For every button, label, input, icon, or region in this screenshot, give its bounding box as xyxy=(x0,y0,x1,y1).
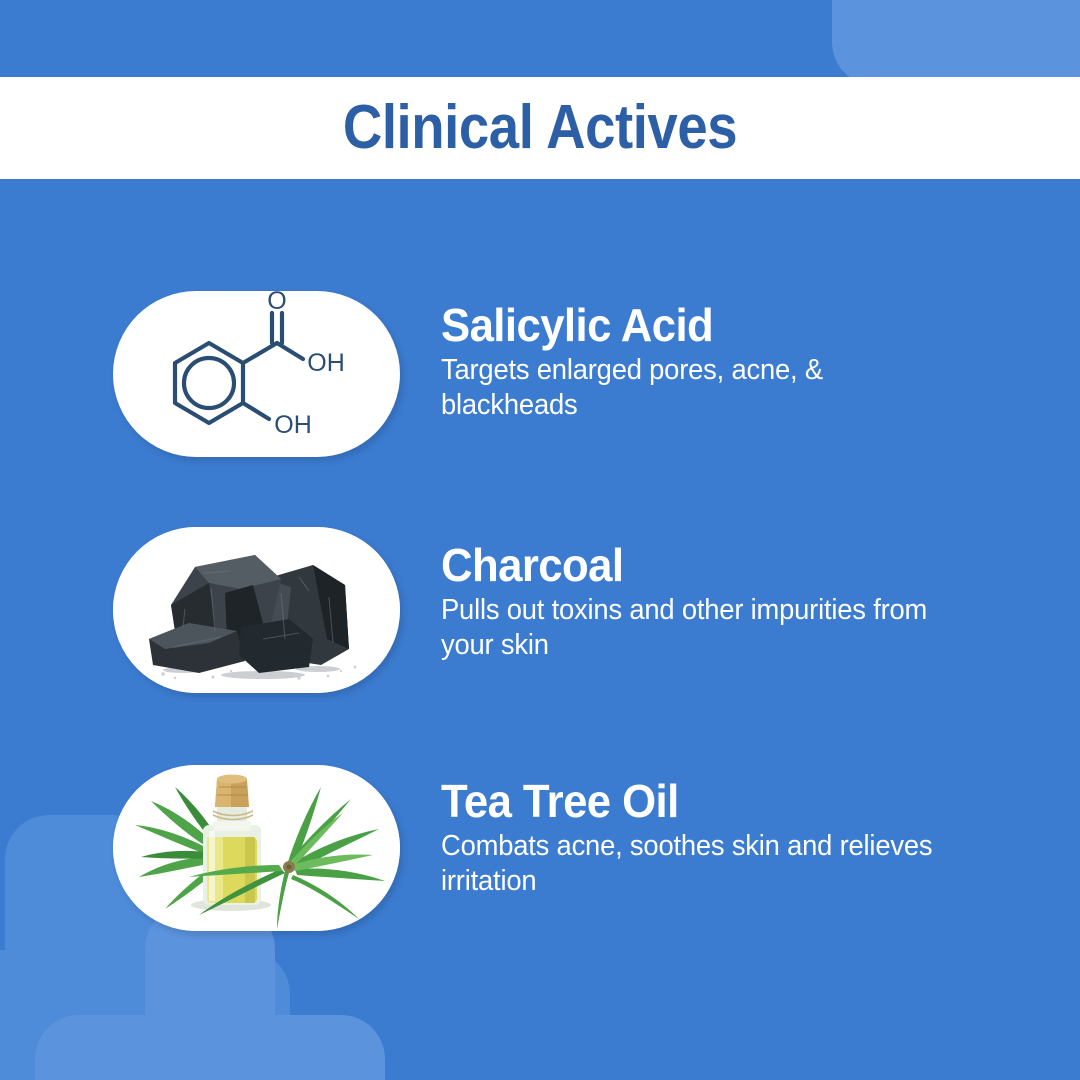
molecule-label-carboxyl-hydroxyl: OH xyxy=(307,349,345,377)
decorative-cross-bottom-left-small xyxy=(35,905,385,1080)
molecule-label-carbonyl-oxygen: O xyxy=(267,291,286,315)
icon-card-salicylic-acid: O OH OH xyxy=(113,291,400,457)
infographic-canvas: Clinical Actives xyxy=(0,0,1080,1080)
feature-title: Salicylic Acid xyxy=(441,301,973,349)
feature-description: Combats acne, soothes skin and relieves … xyxy=(441,829,959,899)
feature-text-tea-tree-oil: Tea Tree Oil Combats acne, soothes skin … xyxy=(441,777,1001,899)
salicylic-acid-molecule-icon: O OH OH xyxy=(113,291,400,457)
cross-horizontal-bar xyxy=(0,950,290,1080)
feature-description: Pulls out toxins and other impurities fr… xyxy=(441,593,959,663)
tea-tree-oil-bottle-icon xyxy=(113,765,400,931)
charcoal-chunks-icon xyxy=(113,527,400,693)
cross-horizontal-bar xyxy=(35,1015,385,1080)
cross-vertical-bar xyxy=(145,905,275,1080)
icon-card-charcoal xyxy=(113,527,400,693)
feature-description: Targets enlarged pores, acne, & blackhea… xyxy=(441,353,959,423)
feature-text-charcoal: Charcoal Pulls out toxins and other impu… xyxy=(441,541,1001,663)
feature-title: Tea Tree Oil xyxy=(441,777,973,825)
page-title: Clinical Actives xyxy=(343,97,737,159)
title-banner: Clinical Actives xyxy=(0,77,1080,179)
feature-title: Charcoal xyxy=(441,541,973,589)
feature-text-salicylic-acid: Salicylic Acid Targets enlarged pores, a… xyxy=(441,301,1001,423)
molecule-label-ring-hydroxyl: OH xyxy=(274,411,312,439)
icon-card-tea-tree-oil xyxy=(113,765,400,931)
cross-horizontal-bar xyxy=(832,0,1080,86)
